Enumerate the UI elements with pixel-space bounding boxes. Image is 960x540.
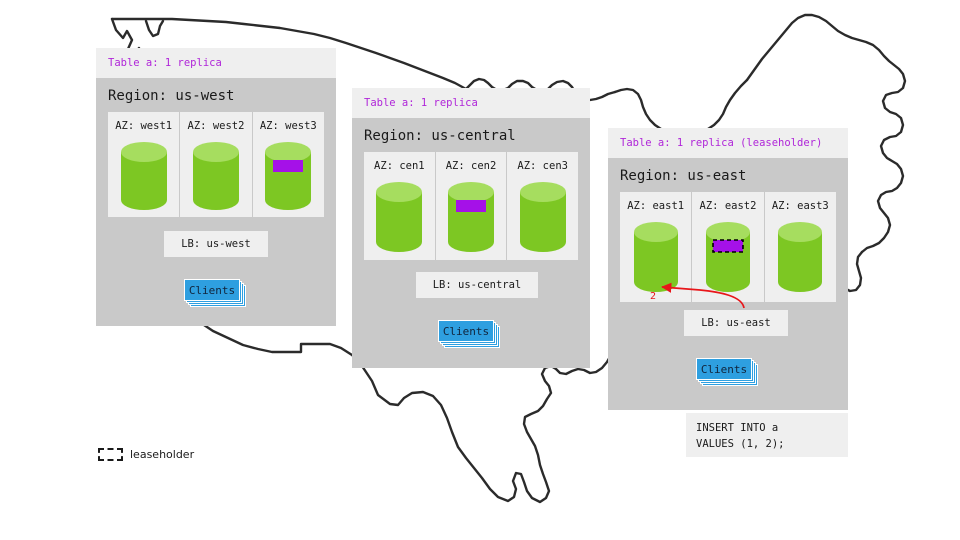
az-row-us-west: AZ: west1 AZ: west2 AZ:: [108, 112, 324, 217]
leaseholder-replica-marker: [713, 240, 743, 252]
az-east2[interactable]: AZ: east2: [691, 192, 763, 302]
clients-us-east[interactable]: Clients: [696, 358, 762, 388]
load-balancer-us-east[interactable]: LB: us-east: [684, 310, 788, 336]
region-title-us-west: Region: us-west: [96, 78, 336, 112]
az-label: AZ: west2: [188, 120, 245, 132]
az-label: AZ: cen1: [374, 160, 425, 172]
clients-label: Clients: [438, 320, 494, 342]
load-balancer-us-west[interactable]: LB: us-west: [164, 231, 268, 257]
region-panel-us-east[interactable]: Table a: 1 replica (leaseholder) Region:…: [608, 128, 848, 410]
region-title-us-central: Region: us-central: [352, 118, 590, 152]
region-header-us-central: Table a: 1 replica: [352, 88, 590, 118]
az-west2[interactable]: AZ: west2: [179, 112, 251, 217]
az-cen1[interactable]: AZ: cen1: [364, 152, 435, 260]
region-header-us-east: Table a: 1 replica (leaseholder): [608, 128, 848, 158]
az-row-us-east: AZ: east1 AZ: east2: [620, 192, 836, 302]
node-cylinder[interactable]: [119, 140, 169, 212]
az-east3[interactable]: AZ: east3: [764, 192, 836, 302]
legend: leaseholder: [98, 448, 194, 461]
az-label: AZ: cen3: [517, 160, 568, 172]
node-cylinder[interactable]: [191, 140, 241, 212]
az-east1[interactable]: AZ: east1: [620, 192, 691, 302]
replica-marker: [273, 160, 303, 172]
replica-status-label: Table a: 1 replica: [364, 97, 478, 109]
node-cylinder[interactable]: [704, 220, 752, 294]
clients-us-central[interactable]: Clients: [438, 320, 504, 350]
az-label: AZ: west1: [115, 120, 172, 132]
node-cylinder[interactable]: [446, 180, 496, 254]
diagram-canvas: Table a: 1 replica Region: us-west AZ: w…: [0, 0, 960, 540]
node-cylinder[interactable]: [374, 180, 424, 254]
replica-status-label: Table a: 1 replica (leaseholder): [620, 137, 822, 149]
arrow-step-label: 2: [650, 291, 656, 302]
az-west1[interactable]: AZ: west1: [108, 112, 179, 217]
region-header-us-west: Table a: 1 replica: [96, 48, 336, 78]
az-cen2[interactable]: AZ: cen2: [435, 152, 507, 260]
node-cylinder[interactable]: [263, 140, 313, 212]
dashed-rectangle-icon: [98, 448, 123, 461]
node-cylinder[interactable]: [776, 220, 824, 294]
clients-label: Clients: [184, 279, 240, 301]
replica-status-label: Table a: 1 replica: [108, 57, 222, 69]
clients-label: Clients: [696, 358, 752, 380]
node-cylinder[interactable]: [632, 220, 680, 294]
load-balancer-us-central[interactable]: LB: us-central: [416, 272, 538, 298]
az-row-us-central: AZ: cen1 AZ: cen2: [364, 152, 578, 260]
az-west3[interactable]: AZ: west3: [252, 112, 324, 217]
az-cen3[interactable]: AZ: cen3: [506, 152, 578, 260]
az-label: AZ: east1: [627, 200, 684, 212]
az-label: AZ: west3: [260, 120, 317, 132]
legend-label: leaseholder: [130, 448, 194, 461]
region-panel-us-central[interactable]: Table a: 1 replica Region: us-central AZ…: [352, 88, 590, 368]
node-cylinder[interactable]: [518, 180, 568, 254]
region-title-us-east: Region: us-east: [608, 158, 848, 192]
region-panel-us-west[interactable]: Table a: 1 replica Region: us-west AZ: w…: [96, 48, 336, 326]
replica-marker: [456, 200, 486, 212]
az-label: AZ: east3: [772, 200, 829, 212]
sql-statement-box: INSERT INTO a VALUES (1, 2);: [686, 413, 848, 457]
clients-us-west[interactable]: Clients: [184, 279, 250, 309]
az-label: AZ: cen2: [446, 160, 497, 172]
az-label: AZ: east2: [700, 200, 757, 212]
